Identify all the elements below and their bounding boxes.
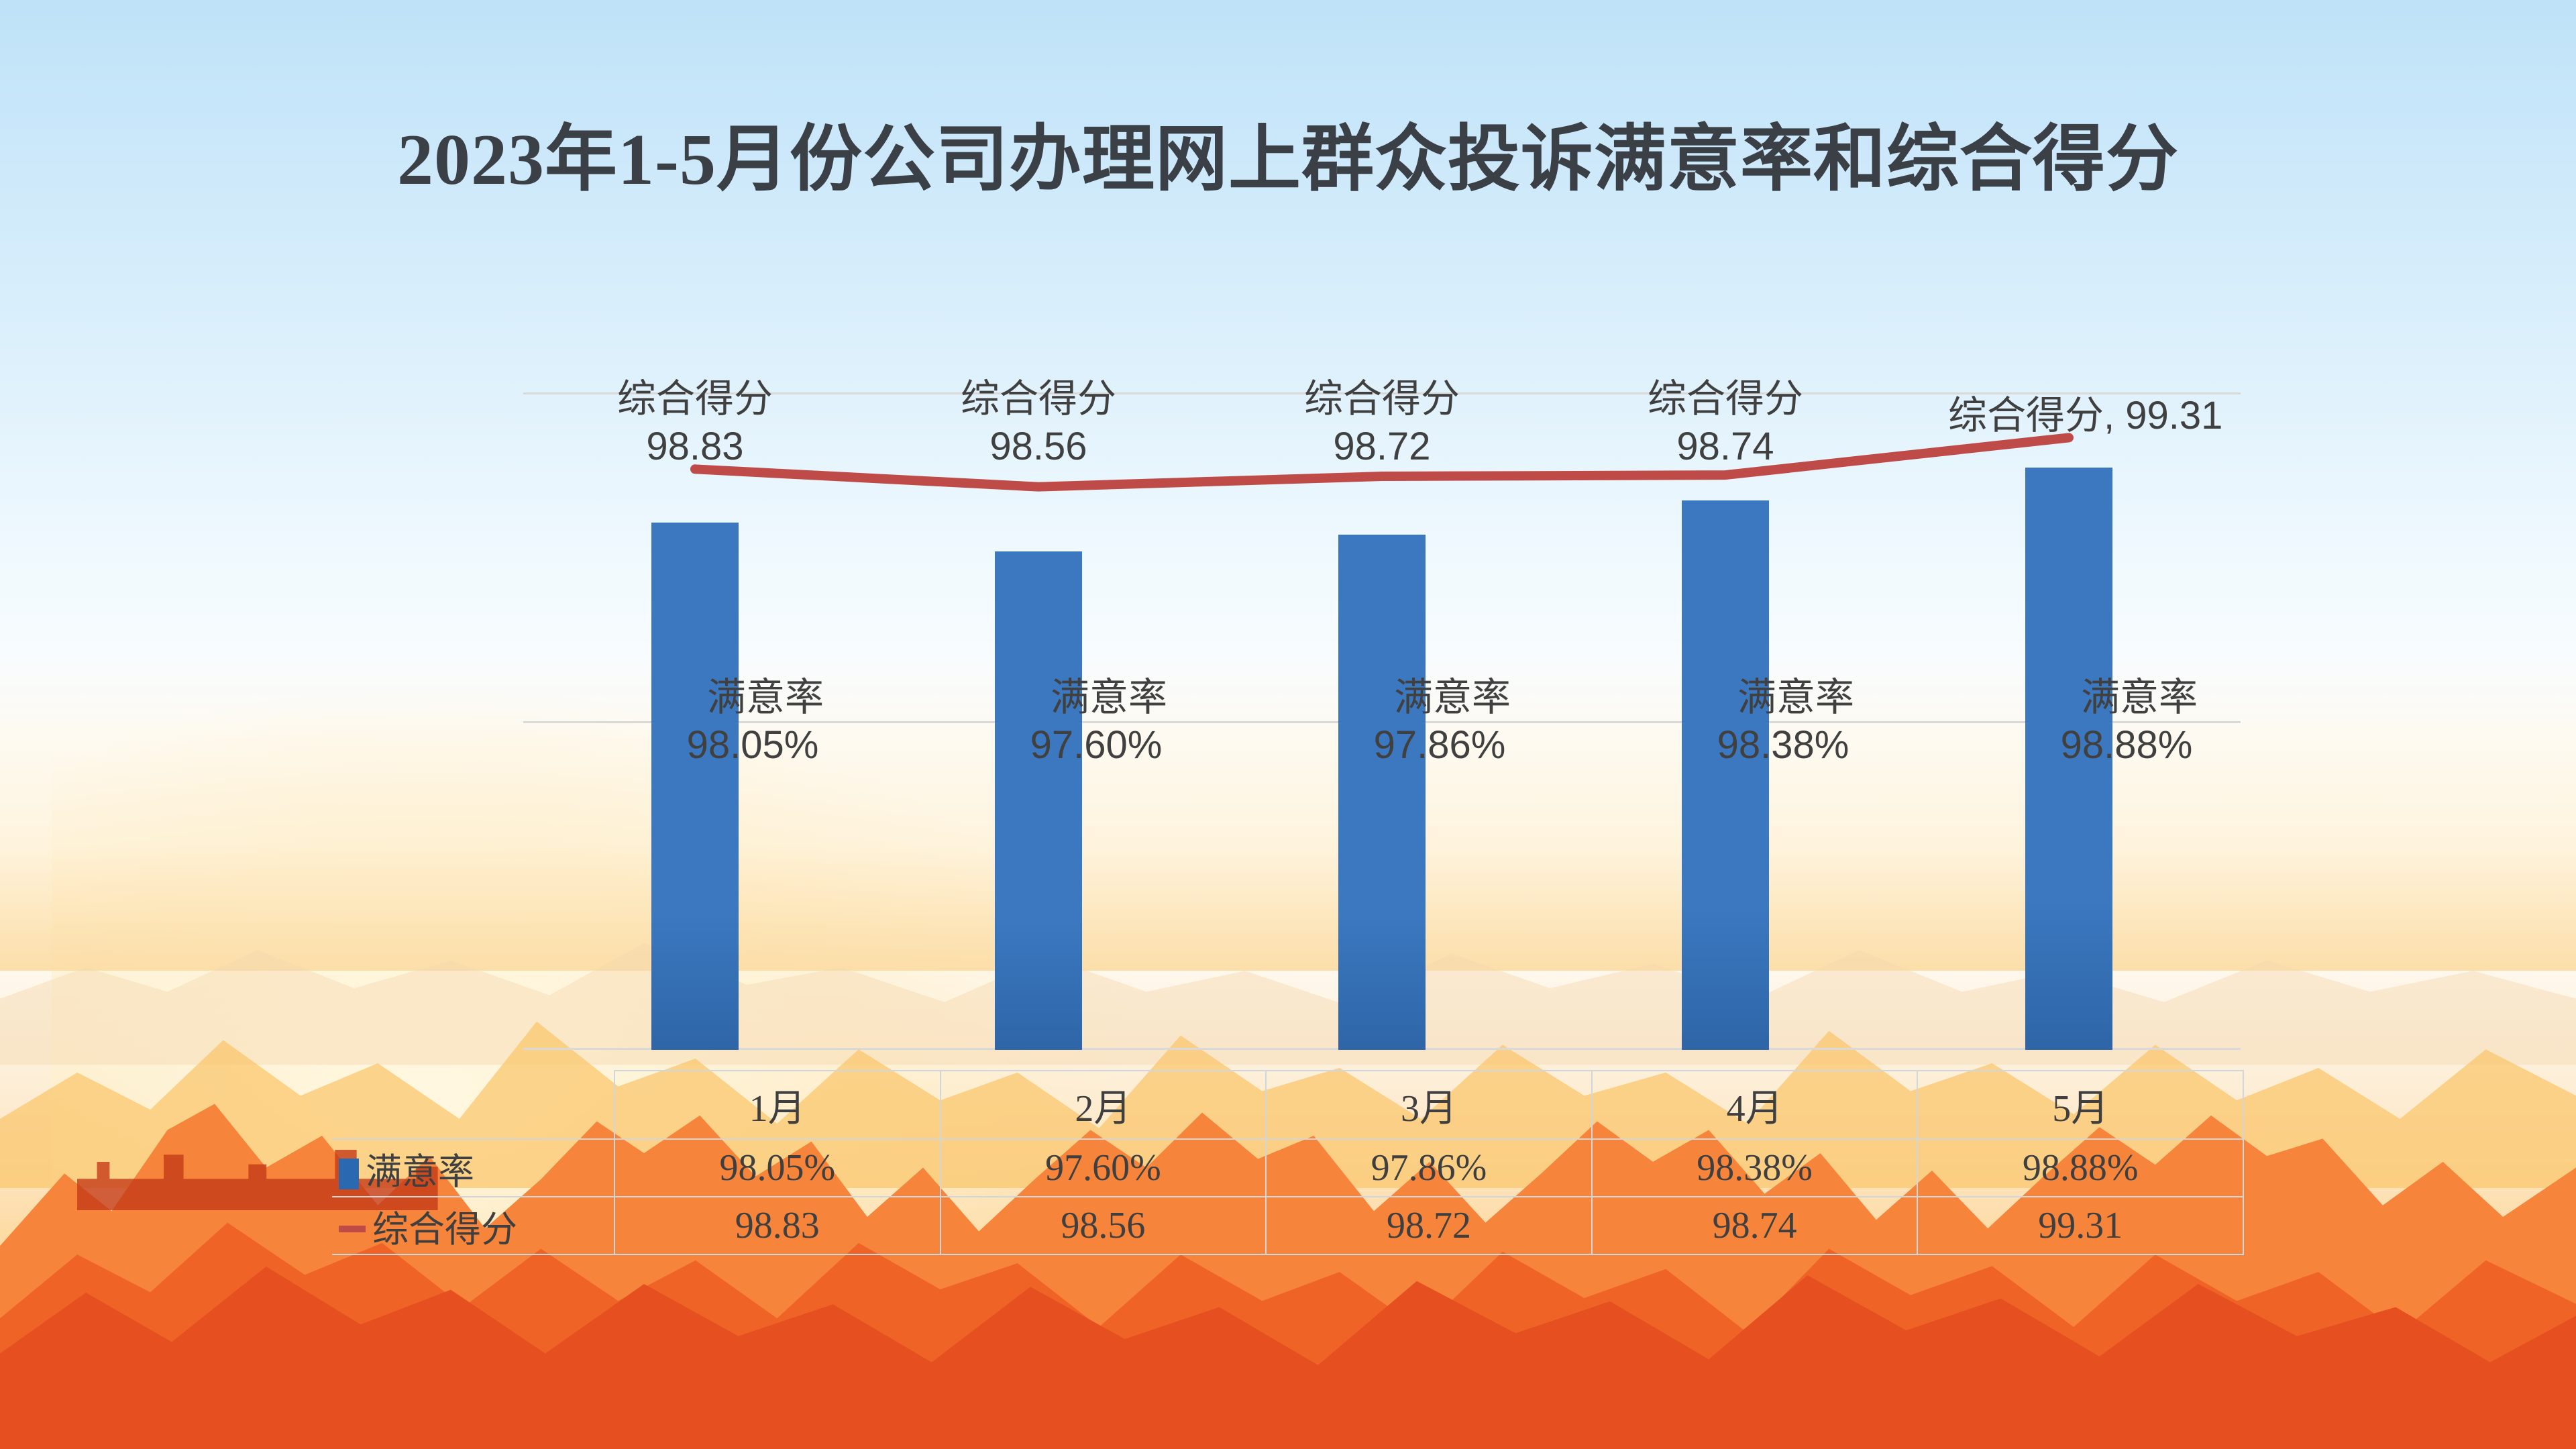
series-marker-icon: [2055, 694, 2074, 703]
series-marker-icon: [1368, 694, 1387, 703]
table-cell: 98.72: [1266, 1197, 1592, 1254]
bar-value-number: 98.88%: [2055, 722, 2198, 769]
line-value-label-2月: 综合得分98.56: [837, 376, 1240, 471]
bar-value-number: 97.60%: [1025, 722, 1167, 769]
bar-rect[interactable]: [1338, 535, 1426, 1050]
bar-rect[interactable]: [1682, 500, 1769, 1050]
bar-2月[interactable]: 满意率97.60%: [867, 392, 1210, 1050]
data-table: 1月2月3月4月5月满意率98.05%97.60%97.86%98.38%98.…: [332, 1070, 2244, 1255]
table-cell: 98.38%: [1592, 1139, 1918, 1197]
bar-3月[interactable]: 满意率97.86%: [1210, 392, 1554, 1050]
legend-line-icon: [339, 1226, 366, 1232]
bar-value-number: 98.38%: [1712, 722, 1854, 769]
chart-area: 2023年1-5月份公司办理网上群众投诉满意率和综合得分 100.00% 95.…: [0, 0, 2576, 1449]
table-header-4月: 4月: [1592, 1071, 1918, 1139]
table-cell: 97.86%: [1266, 1139, 1592, 1197]
table-header-2月: 2月: [941, 1071, 1267, 1139]
table-header-1月: 1月: [614, 1071, 941, 1139]
legend-label: 满意率: [366, 1152, 474, 1192]
series-marker-icon: [1712, 694, 1731, 703]
line-value-label-5月: 综合得分, 99.31: [1948, 392, 2418, 440]
bar-value-label: 满意率98.38%: [1712, 674, 1854, 769]
bar-rect[interactable]: [651, 523, 739, 1050]
legend-square-icon: [339, 1159, 359, 1189]
bar-rect[interactable]: [995, 551, 1082, 1050]
line-value-label-1月: 综合得分98.83: [494, 376, 896, 471]
table-cell: 98.05%: [614, 1139, 941, 1197]
table-cell: 98.88%: [1917, 1139, 2243, 1197]
table-header-5月: 5月: [1917, 1071, 2243, 1139]
bar-value-label: 满意率97.86%: [1368, 674, 1511, 769]
table-row: 满意率98.05%97.60%97.86%98.38%98.88%: [332, 1139, 2243, 1197]
table-cell: 98.74: [1592, 1197, 1918, 1254]
line-label-name: 综合得分: [837, 376, 1240, 423]
line-label-value: 98.83: [494, 423, 896, 471]
bar-4月[interactable]: 满意率98.38%: [1554, 392, 1897, 1050]
table-header-3月: 3月: [1266, 1071, 1592, 1139]
bar-value-number: 98.05%: [682, 722, 824, 769]
line-value-label-3月: 综合得分98.72: [1181, 376, 1583, 471]
table-cell: 99.31: [1917, 1197, 2243, 1254]
line-label-value: 98.74: [1524, 423, 1927, 471]
chart-title: 2023年1-5月份公司办理网上群众投诉满意率和综合得分: [0, 101, 2576, 205]
bar-series-satisfaction: 满意率98.05%满意率97.60%满意率97.86%满意率98.38%满意率9…: [523, 392, 2241, 1050]
line-value-label-4月: 综合得分98.74: [1524, 376, 1927, 471]
line-label-value: 98.56: [837, 423, 1240, 471]
line-label-name: 综合得分, 99.31: [1948, 392, 2418, 440]
bar-5月[interactable]: 满意率98.88%: [1897, 392, 2241, 1050]
line-label-value: 98.72: [1181, 423, 1583, 471]
series-marker-icon: [1025, 694, 1044, 703]
table-cell: 98.83: [614, 1197, 941, 1254]
bar-value-label: 满意率98.05%: [682, 674, 824, 769]
table-cell: 97.60%: [941, 1139, 1267, 1197]
bar-value-label: 满意率98.88%: [2055, 674, 2198, 769]
table-corner-cell: [332, 1071, 614, 1139]
line-label-name: 综合得分: [1181, 376, 1583, 423]
table-cell: 98.56: [941, 1197, 1267, 1254]
bar-value-number: 97.86%: [1368, 722, 1511, 769]
line-label-name: 综合得分: [1524, 376, 1927, 423]
line-label-name: 综合得分: [494, 376, 896, 423]
legend-item-综合得分[interactable]: 综合得分: [332, 1197, 614, 1254]
bar-1月[interactable]: 满意率98.05%: [523, 392, 867, 1050]
legend-item-满意率[interactable]: 满意率: [332, 1139, 614, 1197]
series-marker-icon: [682, 694, 700, 703]
legend-label: 综合得分: [372, 1210, 517, 1250]
table-row: 综合得分98.8398.5698.7298.7499.31: [332, 1197, 2243, 1254]
bar-value-label: 满意率97.60%: [1025, 674, 1167, 769]
table-header-row: 1月2月3月4月5月: [332, 1071, 2243, 1139]
